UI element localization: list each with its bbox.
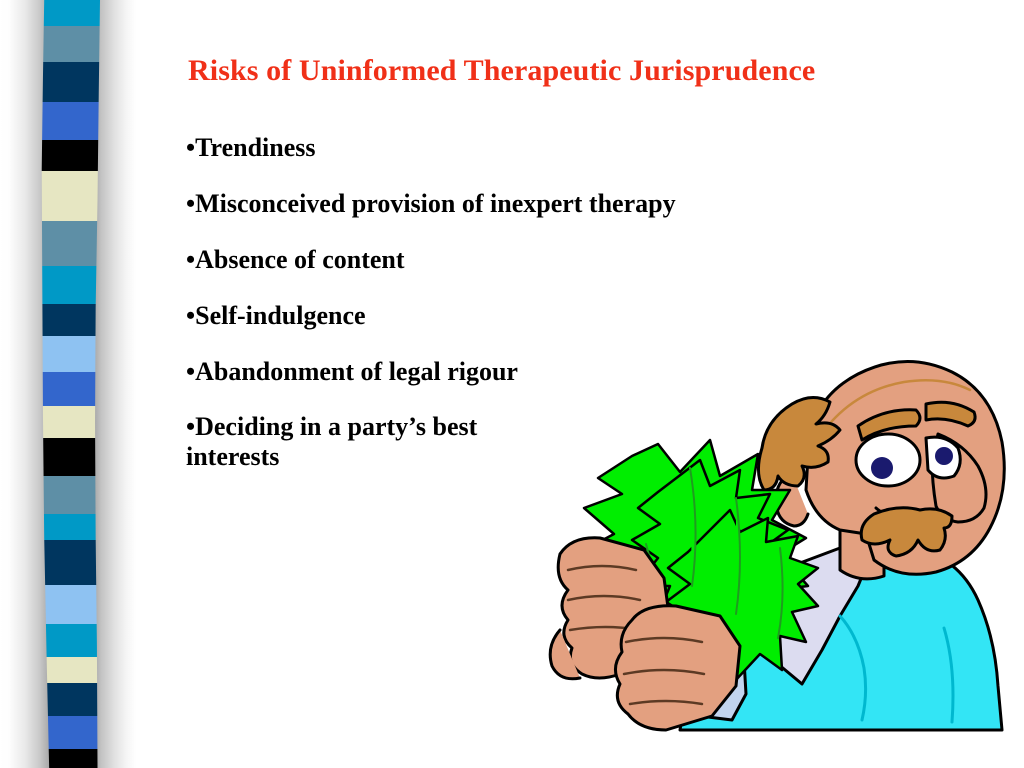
band-shadow-right: [92, 0, 136, 768]
band-stripe-5: [38, 140, 100, 171]
slide-title: Risks of Uninformed Therapeutic Jurispru…: [188, 54, 948, 87]
bullet-marker-icon: •: [186, 245, 195, 274]
bullet-marker-icon: •: [186, 133, 195, 162]
band-stripe-12: [38, 406, 100, 437]
clipart-businessman-holding-cash: [540, 338, 1024, 768]
band-stripe-10: [38, 336, 100, 372]
band-stripe-19: [38, 657, 100, 683]
clipart-svg: [540, 338, 1024, 768]
bullet-item-3: •Absence of content: [186, 245, 866, 275]
stripe-column: [38, 0, 100, 768]
band-stripe-17: [38, 585, 100, 625]
bullet-item-4: •Self-indulgence: [186, 301, 866, 331]
presentation-slide: Risks of Uninformed Therapeutic Jurispru…: [0, 0, 1024, 768]
band-stripe-3: [38, 62, 100, 102]
bullet-text: Trendiness: [195, 133, 315, 162]
band-stripe-14: [38, 476, 100, 514]
band-stripe-16: [38, 540, 100, 585]
band-stripe-18: [38, 624, 100, 657]
bullet-item-1: •Trendiness: [186, 133, 866, 163]
band-stripe-7: [38, 221, 100, 266]
band-stripe-8: [38, 266, 100, 304]
band-stripe-2: [38, 26, 100, 62]
bullet-marker-icon: •: [186, 412, 195, 441]
bullet-item-5: •Abandonment of legal rigour: [186, 357, 546, 387]
band-stripe-15: [38, 514, 100, 540]
stripe-band-clip: [38, 0, 100, 768]
bullet-marker-icon: •: [186, 357, 195, 386]
bullet-text: Abandonment of legal rigour: [195, 357, 518, 386]
bullet-marker-icon: •: [186, 189, 195, 218]
band-stripe-6: [38, 171, 100, 221]
bullet-text: Deciding in a party’s best interests: [186, 412, 477, 471]
bullet-item-2: •Misconceived provision of inexpert ther…: [186, 189, 866, 219]
band-stripe-1: [38, 0, 100, 26]
bullet-text: Absence of content: [195, 245, 404, 274]
band-stripe-9: [38, 304, 100, 335]
bullet-item-6: •Deciding in a party’s best interests: [186, 412, 546, 472]
pupil-left: [871, 457, 893, 479]
left-decorative-band: [0, 0, 140, 768]
pupil-right: [935, 447, 953, 465]
band-stripe-13: [38, 438, 100, 476]
bullet-text: Misconceived provision of inexpert thera…: [195, 189, 675, 218]
bullet-text: Self-indulgence: [195, 301, 365, 330]
band-stripe-4: [38, 102, 100, 140]
band-stripe-11: [38, 372, 100, 407]
bullet-marker-icon: •: [186, 301, 195, 330]
